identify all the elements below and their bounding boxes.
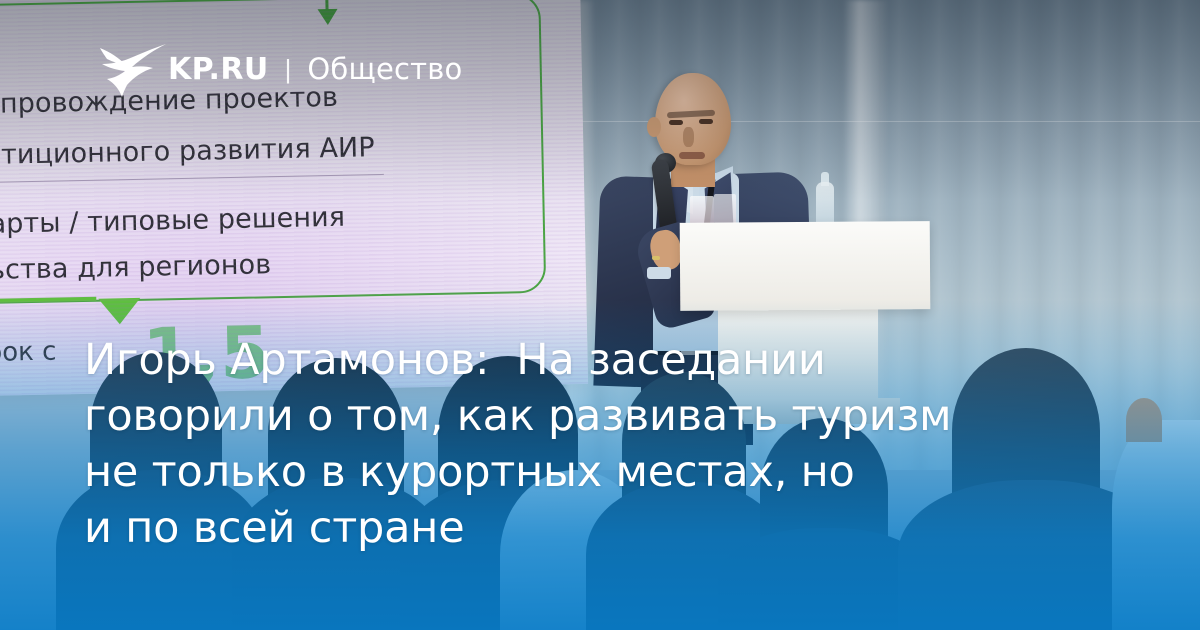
headline-line-2: говорили о том, как развивать туризм xyxy=(84,388,1084,444)
article-headline: Игорь Артамонов: На заседании говорили о… xyxy=(84,332,1084,556)
brand-site-label[interactable]: KP.RU xyxy=(168,52,269,87)
speaker-ring xyxy=(652,256,660,260)
kp-swallow-bird-icon xyxy=(98,41,168,97)
brand-category-label[interactable]: Общество xyxy=(307,52,462,86)
brand-separator: | xyxy=(285,54,292,85)
headline-line-4: и по всей стране xyxy=(84,500,1084,556)
kp-share-card: сопровождение проектов естиционного разв… xyxy=(0,0,1200,630)
headline-line-3: не только в курортных местах, но xyxy=(84,444,1084,500)
podium-panel: НАЦИОНАЛЬНЫЙ ЦЕНТР Р ССИЯ xyxy=(680,221,931,311)
brand-header[interactable]: KP.RU | Общество xyxy=(98,40,558,98)
top-shade-overlay xyxy=(0,0,1200,200)
speaker-cuff xyxy=(647,267,671,279)
headline-line-1: Игорь Артамонов: На заседании xyxy=(84,332,1084,388)
